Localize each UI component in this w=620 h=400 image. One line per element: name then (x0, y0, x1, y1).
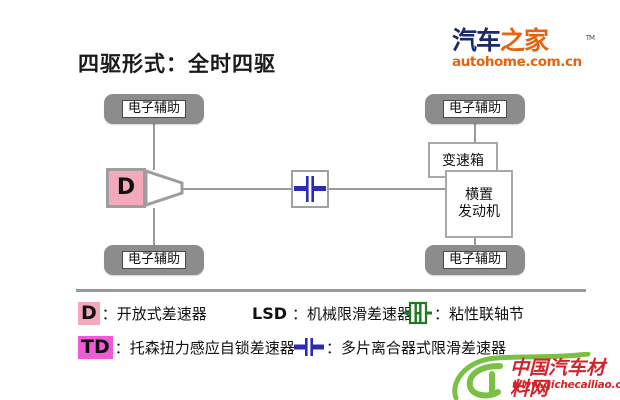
legend-text-3: 托森扭力感应自锁差速器 (130, 339, 295, 357)
watermark-url: www.qichecailiao.com (512, 379, 620, 391)
legend-symbol-lsd: LSD (249, 302, 290, 325)
legend-item-lsd: LSD ：机械限滑差速器 (249, 300, 412, 326)
legend-sep-3: ： (115, 339, 130, 357)
gearbox-label: 变速箱 (442, 150, 484, 170)
legend-item-torsen-diff: TD ：托森扭力感应自锁差速器 (78, 334, 295, 360)
viscous-coupling-icon (404, 301, 432, 325)
trademark-icon: TM (586, 25, 594, 51)
legend-sep-1: ： (292, 305, 307, 323)
autohome-logo-cn: 汽车之家 TM (452, 28, 592, 54)
drivetrain-diagram: 电子辅助 电子辅助 电子辅助 电子辅助 D (0, 80, 620, 280)
legend-divider (76, 289, 586, 292)
engine-label: 横置发动机 (458, 187, 500, 221)
ecu-rear-left-label: 电子辅助 (122, 251, 186, 269)
wire-front-right-axle (474, 122, 476, 144)
legend-text-1: 机械限滑差速器 (307, 305, 412, 323)
diagram-canvas: 四驱形式：全时四驱 汽车之家 TM autohome.com.cn 电子辅助 电… (0, 0, 620, 400)
legend-label-torsen-diff: ：托森扭力感应自锁差速器 (115, 337, 295, 358)
wire-rear-left-axle (153, 208, 155, 248)
wire-engine-link (414, 188, 446, 190)
legend-symbol-td: TD (78, 336, 113, 359)
legend-sep-4: ： (326, 339, 341, 357)
engine-label-line2: 发动机 (458, 204, 500, 220)
ecu-front-left: 电子辅助 (104, 94, 204, 124)
legend-item-viscous-coupling: ：粘性联轴节 (404, 300, 524, 326)
qichecailiao-watermark: 中国汽车材料网 www.qichecailiao.com (448, 352, 620, 400)
autohome-logo-cn-part1: 汽车 (452, 26, 500, 55)
front-differential-box: D (106, 168, 146, 208)
legend-text-2: 粘性联轴节 (449, 305, 524, 323)
legend-label-viscous-coupling: ：粘性联轴节 (434, 303, 524, 324)
wire-propshaft-left (182, 188, 293, 190)
center-clutch-icon (291, 170, 329, 208)
legend-label-lsd: ：机械限滑差速器 (292, 303, 412, 324)
ecu-rear-left: 电子辅助 (104, 245, 204, 275)
ecu-front-right: 电子辅助 (425, 94, 525, 124)
multi-plate-clutch-icon (294, 335, 324, 359)
autohome-logo-url: autohome.com.cn (452, 55, 592, 70)
wire-front-left-axle (153, 122, 155, 170)
autohome-logo: 汽车之家 TM autohome.com.cn (452, 28, 592, 74)
legend-sep-0: ： (102, 305, 117, 323)
ecu-front-right-label: 电子辅助 (443, 100, 507, 118)
legend-text-0: 开放式差速器 (117, 305, 207, 323)
engine-label-line1: 横置 (465, 187, 493, 203)
ecu-rear-right-label: 电子辅助 (443, 251, 507, 269)
legend-sep-2: ： (434, 305, 449, 323)
engine-box: 横置发动机 (445, 170, 513, 238)
ecu-rear-right: 电子辅助 (425, 245, 525, 275)
ecu-front-left-label: 电子辅助 (122, 100, 186, 118)
legend-item-open-diff: D ：开放式差速器 (78, 300, 207, 326)
legend-symbol-d: D (78, 302, 100, 325)
autohome-logo-cn-part2: 之家 (500, 26, 548, 55)
page-title: 四驱形式：全时四驱 (78, 48, 276, 78)
legend-label-open-diff: ：开放式差速器 (102, 303, 207, 324)
front-differential-label: D (117, 177, 135, 199)
